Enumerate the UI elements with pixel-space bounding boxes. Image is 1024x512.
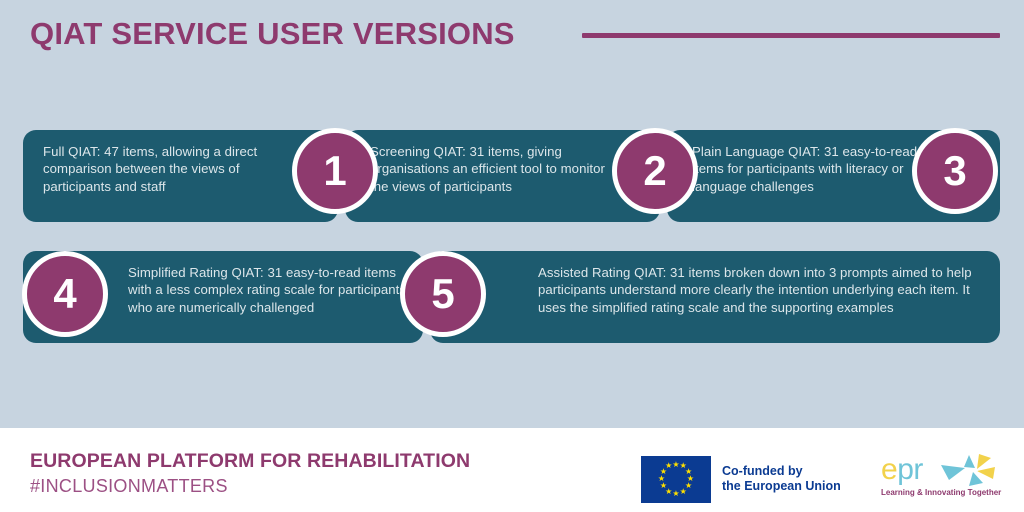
- epr-wordmark: epr: [881, 455, 923, 485]
- title-divider-rule: [582, 33, 1000, 38]
- card-description: Simplified Rating QIAT: 31 easy-to-read …: [128, 264, 413, 316]
- eu-cofunding-line-2: the European Union: [722, 479, 841, 494]
- card-description: Full QIAT: 47 items, allowing a direct c…: [43, 143, 293, 195]
- card-description: Screening QIAT: 31 items, giving organis…: [370, 143, 620, 195]
- eu-flag-star: ★: [665, 462, 673, 470]
- epr-tagline: Learning & Innovating Together: [881, 488, 1001, 498]
- eu-flag-star: ★: [658, 475, 666, 483]
- page-title: QIAT SERVICE USER VERSIONS: [30, 16, 515, 52]
- epr-wordmark-letter-r: r: [913, 453, 923, 486]
- european-union-flag-icon: ★★★★★★★★★★★★: [641, 456, 711, 503]
- epr-wordmark-letter-p: p: [897, 453, 913, 486]
- epr-logo: epr Learning & Innovating Together: [881, 455, 999, 503]
- card-row-bottom: Simplified Rating QIAT: 31 easy-to-read …: [0, 251, 1024, 343]
- footer-hashtag: #INCLUSIONMATTERS: [30, 476, 228, 497]
- card-description: Plain Language QIAT: 31 easy-to-read ite…: [692, 143, 942, 195]
- epr-wordmark-letter-e: e: [881, 453, 897, 486]
- card-assisted-rating-qiat: Assisted Rating QIAT: 31 items broken do…: [430, 251, 1000, 343]
- eu-flag-star: ★: [659, 482, 667, 490]
- card-description: Assisted Rating QIAT: 31 items broken do…: [538, 264, 993, 316]
- step-number-badge-1: 1: [292, 128, 378, 214]
- footer-bar: EUROPEAN PLATFORM FOR REHABILITATION #IN…: [0, 428, 1024, 512]
- step-number-badge-3: 3: [912, 128, 998, 214]
- step-number-badge-4: 4: [22, 251, 108, 337]
- eu-cofunding-line-1: Co-funded by: [722, 464, 841, 479]
- eu-cofunding-text: Co-funded by the European Union: [722, 464, 841, 494]
- step-number-badge-2: 2: [612, 128, 698, 214]
- epr-star-icon: [939, 453, 997, 487]
- step-number-badge-5: 5: [400, 251, 486, 337]
- eu-flag-star: ★: [672, 490, 680, 498]
- card-row-top: Full QIAT: 47 items, allowing a direct c…: [0, 130, 1024, 222]
- eu-cofunding-logo: ★★★★★★★★★★★★ Co-funded by the European U…: [641, 455, 841, 503]
- title-bar: QIAT SERVICE USER VERSIONS: [0, 0, 1024, 90]
- footer-organisation-name: EUROPEAN PLATFORM FOR REHABILITATION: [30, 450, 470, 473]
- eu-flag-star: ★: [679, 488, 687, 496]
- card-full-qiat: Full QIAT: 47 items, allowing a direct c…: [23, 130, 338, 222]
